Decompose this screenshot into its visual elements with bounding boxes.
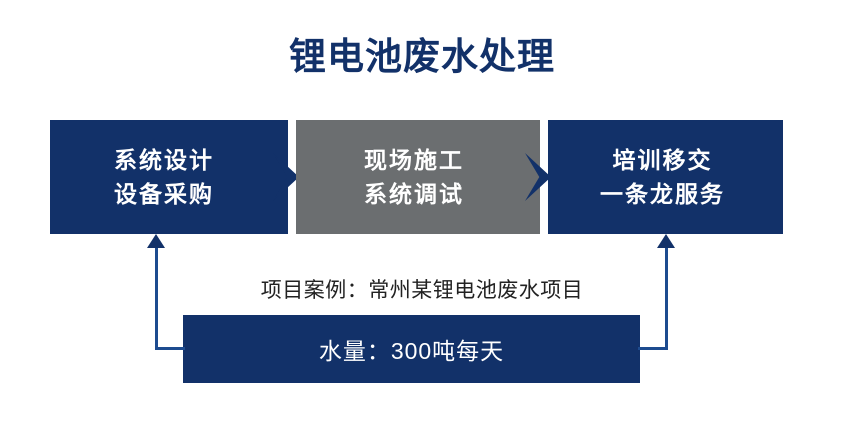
stage-3-line-1: 培训移交 — [613, 143, 713, 177]
case-caption: 项目案例：常州某锂电池废水项目 — [0, 276, 844, 306]
connector-right-horizontal — [638, 347, 668, 350]
stage-box-training-handover: 培训移交 一条龙服务 — [548, 120, 783, 234]
connector-right-vertical — [665, 248, 668, 349]
stage-3-line-2: 一条龙服务 — [600, 177, 725, 211]
stage-box-system-design: 系统设计 设备采购 — [50, 120, 288, 234]
stage-1-line-2: 设备采购 — [114, 177, 214, 211]
arrow-up-icon-right — [657, 234, 675, 248]
page-title: 锂电池废水处理 — [0, 34, 844, 80]
summary-text: 水量：300吨每天 — [319, 332, 504, 366]
stage-box-site-construction: 现场施工 系统调试 — [296, 120, 540, 234]
diagram-canvas: 锂电池废水处理 系统设计 设备采购 现场施工 系统调试 培训移交 一条龙服务 项… — [0, 0, 844, 421]
summary-bar: 水量：300吨每天 — [183, 315, 640, 383]
arrow-up-icon-left — [147, 234, 165, 248]
stage-2-line-2: 系统调试 — [364, 177, 464, 211]
stage-2-line-1: 现场施工 — [364, 143, 464, 177]
stage-1-line-1: 系统设计 — [114, 143, 214, 177]
connector-left-vertical — [155, 248, 158, 349]
connector-left-horizontal — [155, 347, 185, 350]
